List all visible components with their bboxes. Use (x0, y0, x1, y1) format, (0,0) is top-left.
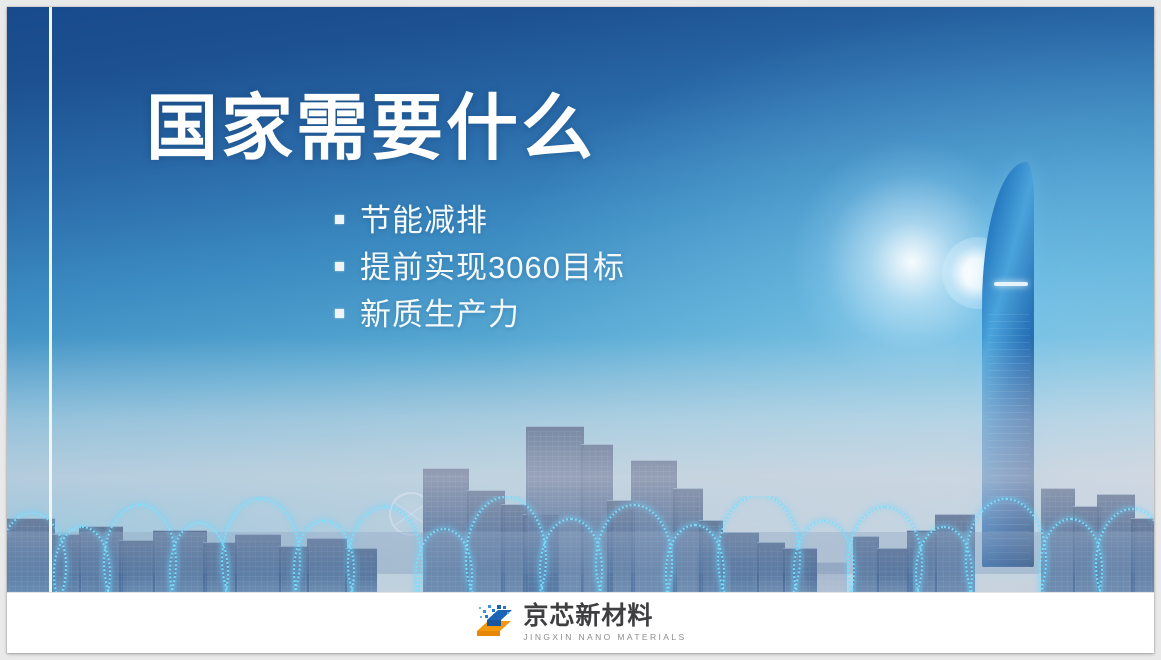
company-logo: 京芯新材料 JINGXIN NANO MATERIALS (474, 603, 686, 643)
page-title: 国家需要什么 (146, 91, 596, 169)
company-name-cn: 京芯新材料 (523, 603, 686, 630)
slide-frame: 国家需要什么 节能减排 提前实现3060目标 新质生产力 (7, 7, 1154, 653)
dot-arc (539, 518, 603, 592)
list-item-label: 新质生产力 (360, 295, 520, 335)
dot-arc (965, 498, 1047, 592)
dot-arc (465, 496, 547, 592)
list-item: 提前实现3060目标 (335, 248, 625, 295)
dot-arc (595, 504, 673, 592)
glowing-dot-network-overlay (7, 496, 1154, 592)
bullet-list: 节能减排 提前实现3060目标 新质生产力 (335, 201, 625, 342)
dot-arc (847, 506, 923, 592)
square-bullet-icon (335, 215, 344, 224)
dot-arc (1095, 508, 1154, 592)
vertical-accent-rule (49, 7, 52, 592)
logo-svg (474, 603, 514, 643)
dot-arc (103, 504, 177, 592)
dot-arc (665, 524, 725, 592)
company-name-en: JINGXIN NANO MATERIALS (523, 631, 686, 643)
list-item: 节能减排 (335, 201, 625, 248)
list-item-label: 提前实现3060目标 (360, 248, 625, 288)
dot-arc (293, 520, 355, 592)
slide-footer: 京芯新材料 JINGXIN NANO MATERIALS (7, 592, 1154, 653)
list-item: 新质生产力 (335, 295, 625, 342)
square-bullet-icon (335, 309, 344, 318)
list-item-label: 节能减排 (360, 201, 488, 241)
dot-arc (1039, 518, 1103, 592)
jingxin-pixel-parallelogram-logo-icon (474, 603, 514, 643)
dot-arc (717, 496, 801, 592)
logo-wordmark: 京芯新材料 JINGXIN NANO MATERIALS (523, 603, 686, 643)
dot-arc (793, 520, 855, 592)
dot-arc (347, 506, 423, 592)
dot-arc (221, 498, 301, 592)
dot-arc (169, 522, 229, 592)
hero-background-photo: 国家需要什么 节能减排 提前实现3060目标 新质生产力 (7, 7, 1154, 592)
square-bullet-icon (335, 262, 344, 271)
